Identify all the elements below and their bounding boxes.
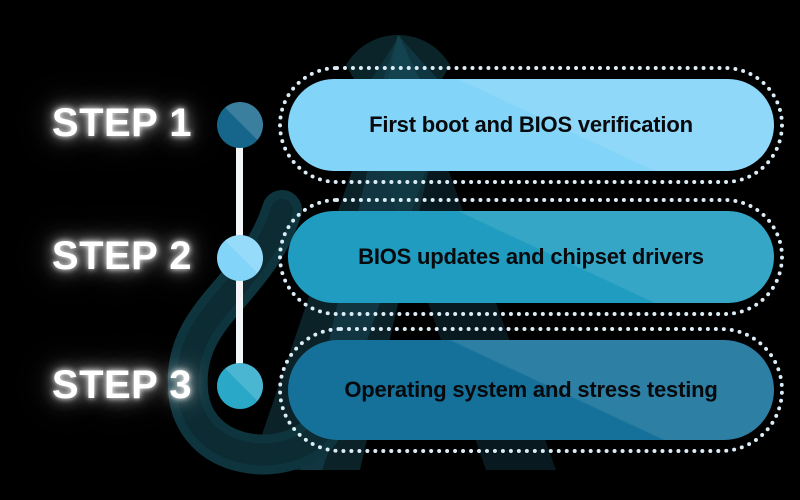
step-pill-text-2: BIOS updates and chipset drivers	[332, 244, 730, 270]
timeline-node-step-1[interactable]	[217, 102, 263, 148]
step-label-3: STEP 3	[0, 365, 192, 405]
timeline-node-step-2[interactable]	[217, 235, 263, 281]
step-pill-text-1: First boot and BIOS verification	[343, 112, 719, 138]
step-pill-1[interactable]: First boot and BIOS verification	[288, 79, 774, 171]
step-label-1: STEP 1	[0, 103, 192, 143]
timeline-node-step-3[interactable]	[217, 363, 263, 409]
step-pill-text-3: Operating system and stress testing	[318, 377, 743, 403]
step-row-3: Operating system and stress testing	[278, 327, 784, 453]
node-gloss-2	[217, 235, 263, 281]
node-gloss-3	[217, 363, 263, 409]
step-pill-3[interactable]: Operating system and stress testing	[288, 340, 774, 440]
step-row-2: BIOS updates and chipset drivers	[278, 198, 784, 316]
step-row-1: First boot and BIOS verification	[278, 66, 784, 184]
step-pill-2[interactable]: BIOS updates and chipset drivers	[288, 211, 774, 303]
node-gloss-1	[217, 102, 263, 148]
step-label-2: STEP 2	[0, 236, 192, 276]
infographic-canvas: STEP 1 STEP 2 STEP 3 First boot and BIOS…	[0, 0, 800, 500]
